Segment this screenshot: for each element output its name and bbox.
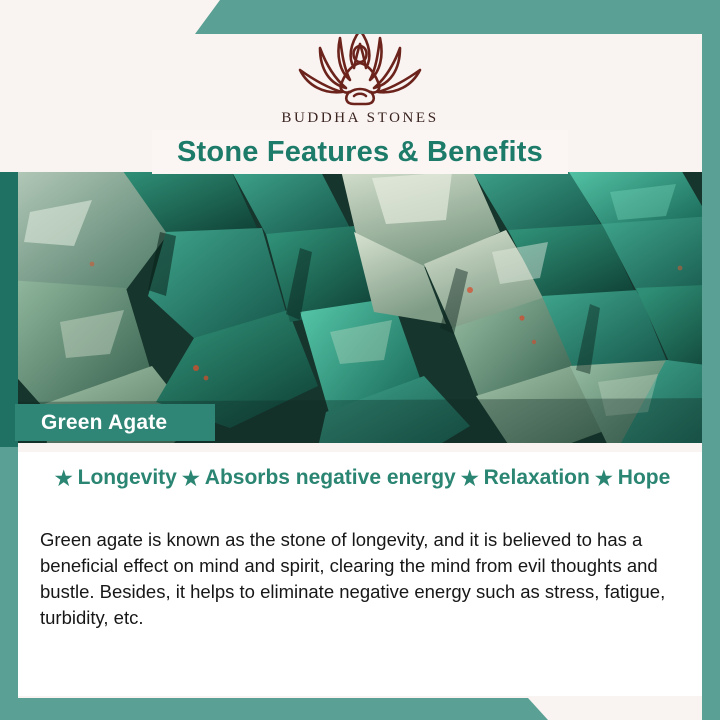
stone-name: Green Agate	[41, 411, 167, 435]
star-icon: ★	[461, 469, 479, 489]
star-icon: ★	[182, 469, 200, 489]
star-icon: ★	[595, 469, 613, 489]
benefit-item-relaxation: Relaxation	[484, 466, 590, 489]
benefit-item-hope: Hope	[618, 466, 671, 489]
star-icon: ★	[55, 469, 73, 489]
benefit-item-longevity: Longevity	[78, 466, 177, 489]
frame-top-accent	[195, 0, 720, 34]
title-banner: Stone Features & Benefits	[152, 130, 568, 174]
brand-name: BUDDHA STONES	[0, 110, 720, 127]
content-card: ★Longevity★Absorbs negative energy★Relax…	[18, 452, 702, 696]
page-title: Stone Features & Benefits	[177, 136, 543, 169]
stone-description: Green agate is known as the stone of lon…	[40, 527, 688, 631]
frame-bottom-accent	[0, 698, 720, 720]
benefit-item-absorbs-negative-energy: Absorbs negative energy	[205, 466, 456, 489]
brand-logo: BUDDHA STONES	[0, 22, 720, 127]
frame-right-accent	[702, 0, 720, 720]
benefits-list: ★Longevity★Absorbs negative energy★Relax…	[18, 466, 702, 490]
stone-features-poster: BUDDHA STONES Stone Features & Benefits …	[0, 0, 720, 720]
stone-name-tag: Green Agate	[15, 404, 215, 441]
lotus-meditation-icon	[286, 22, 434, 108]
